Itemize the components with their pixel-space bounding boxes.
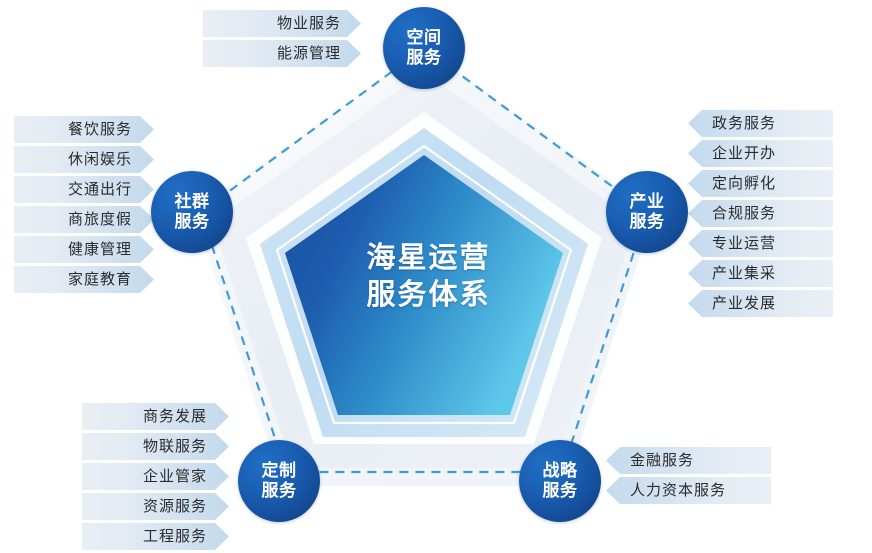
banner-community-4[interactable]: 健康管理: [14, 236, 154, 263]
banner-label: 交通出行: [68, 176, 132, 203]
node-industry-services[interactable]: 产业 服务: [606, 171, 688, 253]
banner-community-0[interactable]: 餐饮服务: [14, 116, 154, 143]
node-strategy-services[interactable]: 战略 服务: [519, 440, 601, 522]
banner-industry-5[interactable]: 产业集采: [688, 260, 833, 287]
banner-label: 政务服务: [712, 110, 776, 137]
node-community-services-line-2: 服务: [175, 212, 210, 232]
banner-label: 商旅度假: [68, 206, 132, 233]
node-custom-services-line-1: 定制: [262, 461, 297, 481]
banner-industry-6[interactable]: 产业发展: [688, 290, 833, 317]
node-industry-services-line-1: 产业: [630, 192, 665, 212]
banner-strategy-0[interactable]: 金融服务: [606, 447, 771, 474]
banner-label: 合规服务: [712, 200, 776, 227]
banner-group-industry-services: 政务服务企业开办定向孵化合规服务专业运营产业集采产业发展: [688, 110, 833, 320]
banner-community-5[interactable]: 家庭教育: [14, 266, 154, 293]
banner-label: 餐饮服务: [68, 116, 132, 143]
node-community-services[interactable]: 社群 服务: [151, 171, 233, 253]
banner-label: 资源服务: [143, 493, 207, 520]
banner-label: 能源管理: [277, 40, 341, 67]
banner-label: 产业发展: [712, 290, 776, 317]
node-custom-services[interactable]: 定制 服务: [238, 440, 320, 522]
node-strategy-services-line-1: 战略: [543, 461, 578, 481]
banner-space-1[interactable]: 能源管理: [203, 40, 361, 67]
banner-label: 健康管理: [68, 236, 132, 263]
banner-industry-3[interactable]: 合规服务: [688, 200, 833, 227]
banner-community-2[interactable]: 交通出行: [14, 176, 154, 203]
banner-space-0[interactable]: 物业服务: [203, 10, 361, 37]
banner-label: 人力资本服务: [630, 477, 726, 504]
banner-group-space-services: 物业服务能源管理: [203, 10, 361, 70]
banner-label: 金融服务: [630, 447, 694, 474]
node-strategy-services-line-2: 服务: [543, 481, 578, 501]
banner-label: 物联服务: [143, 433, 207, 460]
banner-group-strategy-services: 金融服务人力资本服务: [606, 447, 771, 507]
service-system-diagram: 海星运营 服务体系 空间 服务 社群 服务 产业 服务 定制 服务 战略 服务 …: [0, 0, 872, 552]
banner-custom-3[interactable]: 资源服务: [82, 493, 229, 520]
banner-group-custom-services: 商务发展物联服务企业管家资源服务工程服务: [82, 403, 229, 553]
node-space-services-line-1: 空间: [407, 28, 442, 48]
banner-industry-1[interactable]: 企业开办: [688, 140, 833, 167]
banner-label: 产业集采: [712, 260, 776, 287]
node-industry-services-line-2: 服务: [630, 212, 665, 232]
banner-custom-0[interactable]: 商务发展: [82, 403, 229, 430]
banner-strategy-1[interactable]: 人力资本服务: [606, 477, 771, 504]
node-space-services[interactable]: 空间 服务: [383, 7, 465, 89]
banner-label: 专业运营: [712, 230, 776, 257]
banner-custom-2[interactable]: 企业管家: [82, 463, 229, 490]
banner-label: 定向孵化: [712, 170, 776, 197]
node-space-services-line-2: 服务: [407, 48, 442, 68]
node-community-services-line-1: 社群: [175, 192, 210, 212]
banner-industry-0[interactable]: 政务服务: [688, 110, 833, 137]
banner-industry-4[interactable]: 专业运营: [688, 230, 833, 257]
banner-community-3[interactable]: 商旅度假: [14, 206, 154, 233]
banner-label: 企业管家: [143, 463, 207, 490]
banner-label: 商务发展: [143, 403, 207, 430]
banner-label: 物业服务: [277, 10, 341, 37]
banner-group-community-services: 餐饮服务休闲娱乐交通出行商旅度假健康管理家庭教育: [14, 116, 154, 296]
banner-label: 休闲娱乐: [68, 146, 132, 173]
banner-custom-1[interactable]: 物联服务: [82, 433, 229, 460]
banner-label: 工程服务: [143, 523, 207, 550]
banner-industry-2[interactable]: 定向孵化: [688, 170, 833, 197]
node-custom-services-line-2: 服务: [262, 481, 297, 501]
banner-label: 家庭教育: [68, 266, 132, 293]
banner-custom-4[interactable]: 工程服务: [82, 523, 229, 550]
banner-community-1[interactable]: 休闲娱乐: [14, 146, 154, 173]
banner-label: 企业开办: [712, 140, 776, 167]
